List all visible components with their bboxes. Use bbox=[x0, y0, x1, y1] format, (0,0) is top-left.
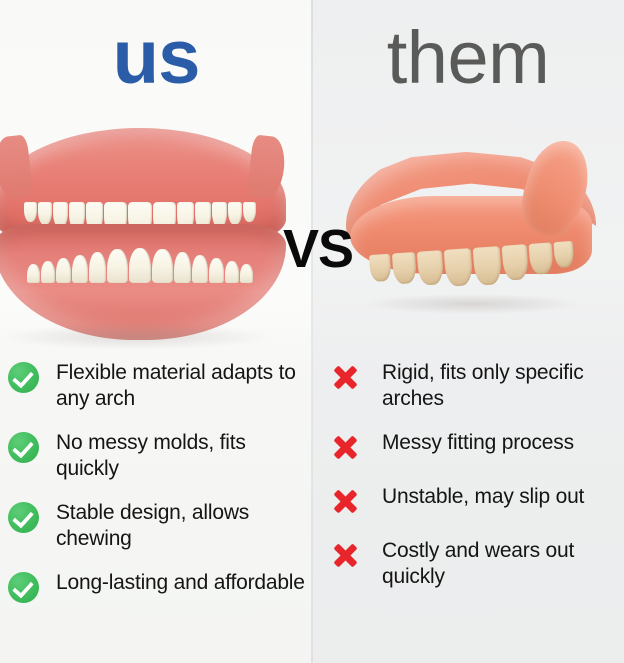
denture-image-us bbox=[0, 110, 312, 350]
list-item: Messy fitting process bbox=[312, 430, 624, 466]
list-item: Rigid, fits only specific arches bbox=[312, 360, 624, 412]
list-item-label: Unstable, may slip out bbox=[382, 484, 584, 510]
x-mark-icon bbox=[330, 362, 364, 396]
tooth bbox=[240, 264, 253, 283]
tooth bbox=[228, 202, 242, 225]
list-item-label: Rigid, fits only specific arches bbox=[382, 360, 624, 412]
heading-us: us bbox=[0, 8, 312, 108]
list-item-label: No messy molds, fits quickly bbox=[56, 430, 312, 482]
list-item: No messy molds, fits quickly bbox=[0, 430, 312, 482]
list-item: Long-lasting and affordable bbox=[0, 570, 312, 606]
tooth bbox=[89, 252, 106, 283]
check-circle-icon bbox=[8, 502, 42, 536]
single-denture-plate-illustration bbox=[346, 144, 596, 314]
tooth bbox=[369, 254, 392, 282]
tooth bbox=[528, 242, 553, 275]
tooth bbox=[174, 252, 191, 283]
tooth bbox=[192, 255, 208, 283]
list-item: Flexible material adapts to any arch bbox=[0, 360, 312, 412]
tooth bbox=[72, 255, 88, 283]
list-item: Unstable, may slip out bbox=[312, 484, 624, 520]
tooth bbox=[417, 250, 444, 286]
list-item-label: Costly and wears out quickly bbox=[382, 538, 624, 590]
tooth bbox=[41, 261, 55, 283]
list-item-label: Stable design, allows chewing bbox=[56, 500, 312, 552]
vs-label: VS bbox=[268, 214, 368, 284]
tooth bbox=[444, 248, 473, 287]
list-item-label: Messy fitting process bbox=[382, 430, 574, 456]
tooth bbox=[24, 202, 37, 222]
full-denture-set-illustration bbox=[0, 128, 286, 340]
check-circle-icon bbox=[8, 572, 42, 606]
tooth bbox=[38, 202, 52, 225]
tooth bbox=[392, 252, 417, 285]
list-item: Stable design, allows chewing bbox=[0, 500, 312, 552]
tooth bbox=[243, 202, 256, 222]
tooth bbox=[225, 261, 239, 283]
plate-drop-shadow bbox=[364, 294, 580, 314]
heading-them: them bbox=[312, 8, 624, 108]
tooth bbox=[129, 248, 151, 283]
list-item-label: Flexible material adapts to any arch bbox=[56, 360, 312, 412]
tooth bbox=[501, 244, 528, 281]
list-item: Costly and wears out quickly bbox=[312, 538, 624, 590]
benefits-list-us: Flexible material adapts to any arch No … bbox=[0, 360, 312, 624]
denture-drop-shadow bbox=[0, 324, 274, 350]
tooth bbox=[209, 258, 224, 283]
x-mark-icon bbox=[330, 486, 364, 520]
x-mark-icon bbox=[330, 540, 364, 574]
check-circle-icon bbox=[8, 432, 42, 466]
comparison-infographic: us them bbox=[0, 0, 624, 663]
upper-flange-left bbox=[0, 134, 33, 199]
tooth bbox=[56, 258, 71, 283]
lower-teeth-row bbox=[12, 248, 268, 283]
tooth bbox=[473, 246, 502, 286]
tooth bbox=[107, 249, 128, 283]
check-circle-icon bbox=[8, 362, 42, 396]
tooth bbox=[553, 241, 574, 268]
drawbacks-list-them: Rigid, fits only specific arches Messy f… bbox=[312, 360, 624, 608]
list-item-label: Long-lasting and affordable bbox=[56, 570, 305, 596]
x-mark-icon bbox=[330, 432, 364, 466]
tooth bbox=[27, 264, 40, 283]
tooth bbox=[152, 249, 173, 283]
